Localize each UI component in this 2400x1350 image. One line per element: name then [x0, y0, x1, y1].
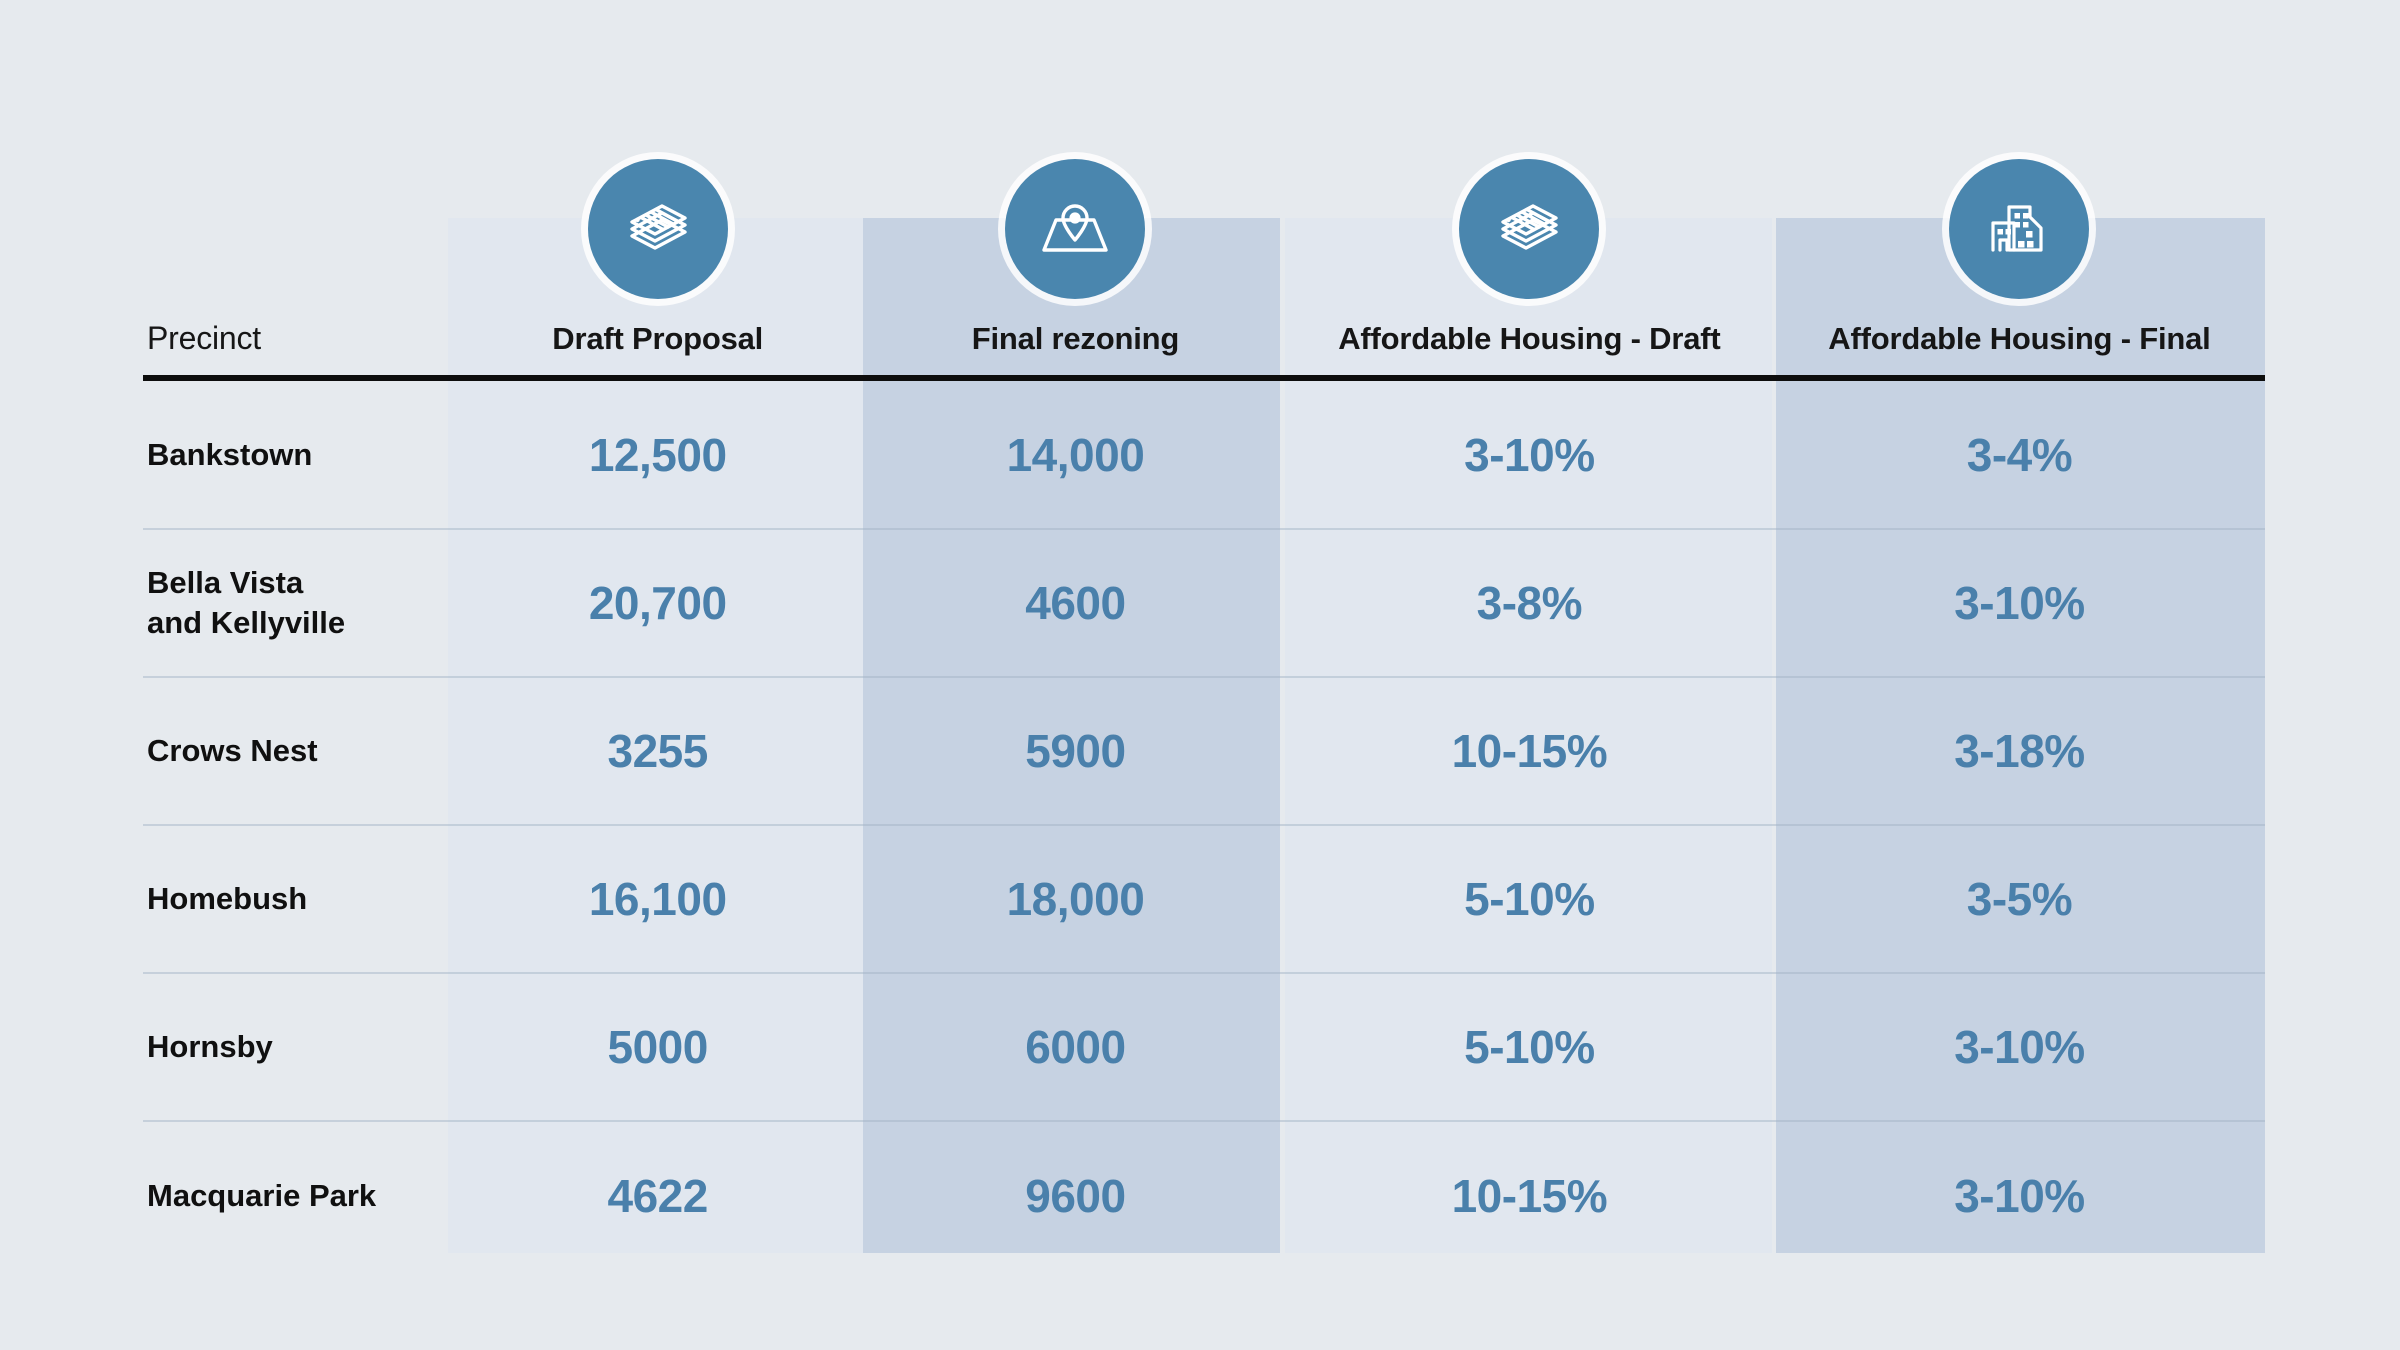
precinct-comparison-table: Precinct Draft Proposal Final rezoning A…	[143, 150, 2265, 1269]
precinct-name-line2: and Kellyville	[147, 605, 345, 640]
cell-final-rezoning: 18,000	[866, 825, 1285, 973]
cell-final-rezoning: 6000	[866, 973, 1285, 1121]
column-header-precinct: Precinct	[143, 305, 449, 375]
table-icon-row	[143, 150, 2265, 305]
icon-cell-affordable-housing-draft	[1285, 150, 1774, 305]
icon-cell-precinct	[143, 150, 449, 305]
cell-affordable-housing-final: 3-10%	[1774, 529, 2265, 677]
icon-cell-affordable-housing-final	[1774, 150, 2265, 305]
cell-draft-proposal: 12,500	[449, 381, 866, 529]
cell-draft-proposal: 5000	[449, 973, 866, 1121]
cell-draft-proposal: 20,700	[449, 529, 866, 677]
precinct-name-line1: Hornsby	[147, 1029, 273, 1064]
cell-affordable-housing-final: 3-18%	[1774, 677, 2265, 825]
row-precinct-label: Crows Nest	[143, 677, 449, 825]
cell-draft-proposal: 16,100	[449, 825, 866, 973]
row-precinct-label: Macquarie Park	[143, 1121, 449, 1269]
cell-final-rezoning: 4600	[866, 529, 1285, 677]
column-header-draft-proposal: Draft Proposal	[449, 305, 866, 375]
cell-draft-proposal: 3255	[449, 677, 866, 825]
table-row: Macquarie Park 4622 9600 10-15% 3-10%	[143, 1121, 2265, 1269]
precinct-name-line1: Homebush	[147, 881, 307, 916]
table-row: Hornsby 5000 6000 5-10% 3-10%	[143, 973, 2265, 1121]
cell-affordable-housing-final: 3-4%	[1774, 381, 2265, 529]
cell-affordable-housing-draft: 3-10%	[1285, 381, 1774, 529]
buildings-icon	[1949, 159, 2089, 299]
documents-stack-icon	[1459, 159, 1599, 299]
row-precinct-label: Bella Vista and Kellyville	[143, 529, 449, 677]
cell-affordable-housing-draft: 5-10%	[1285, 973, 1774, 1121]
column-header-affordable-housing-draft: Affordable Housing - Draft	[1285, 305, 1774, 375]
table-row: Bella Vista and Kellyville 20,700 4600 3…	[143, 529, 2265, 677]
documents-stack-icon	[588, 159, 728, 299]
icon-cell-final-rezoning	[866, 150, 1285, 305]
map-pin-icon	[1005, 159, 1145, 299]
column-header-final-rezoning: Final rezoning	[866, 305, 1285, 375]
precinct-name-line1: Crows Nest	[147, 733, 318, 768]
cell-draft-proposal: 4622	[449, 1121, 866, 1269]
row-precinct-label: Hornsby	[143, 973, 449, 1121]
table-header-row: Precinct Draft Proposal Final rezoning A…	[143, 305, 2265, 375]
cell-affordable-housing-draft: 3-8%	[1285, 529, 1774, 677]
cell-affordable-housing-draft: 10-15%	[1285, 1121, 1774, 1269]
icon-cell-draft-proposal	[449, 150, 866, 305]
cell-affordable-housing-draft: 10-15%	[1285, 677, 1774, 825]
cell-affordable-housing-final: 3-10%	[1774, 1121, 2265, 1269]
cell-affordable-housing-draft: 5-10%	[1285, 825, 1774, 973]
cell-affordable-housing-final: 3-10%	[1774, 973, 2265, 1121]
table-row: Bankstown 12,500 14,000 3-10% 3-4%	[143, 381, 2265, 529]
precinct-name-line1: Bankstown	[147, 437, 312, 472]
cell-final-rezoning: 9600	[866, 1121, 1285, 1269]
precinct-name-line1: Macquarie Park	[147, 1178, 376, 1213]
cell-final-rezoning: 5900	[866, 677, 1285, 825]
precinct-name-line1: Bella Vista	[147, 565, 303, 600]
cell-affordable-housing-final: 3-5%	[1774, 825, 2265, 973]
row-precinct-label: Homebush	[143, 825, 449, 973]
column-header-affordable-housing-final: Affordable Housing - Final	[1774, 305, 2265, 375]
cell-final-rezoning: 14,000	[866, 381, 1285, 529]
row-precinct-label: Bankstown	[143, 381, 449, 529]
table-row: Crows Nest 3255 5900 10-15% 3-18%	[143, 677, 2265, 825]
table-body: Bankstown 12,500 14,000 3-10% 3-4% Bella…	[143, 381, 2265, 1269]
precinct-comparison-infographic: Precinct Draft Proposal Final rezoning A…	[0, 0, 2400, 1350]
table-row: Homebush 16,100 18,000 5-10% 3-5%	[143, 825, 2265, 973]
